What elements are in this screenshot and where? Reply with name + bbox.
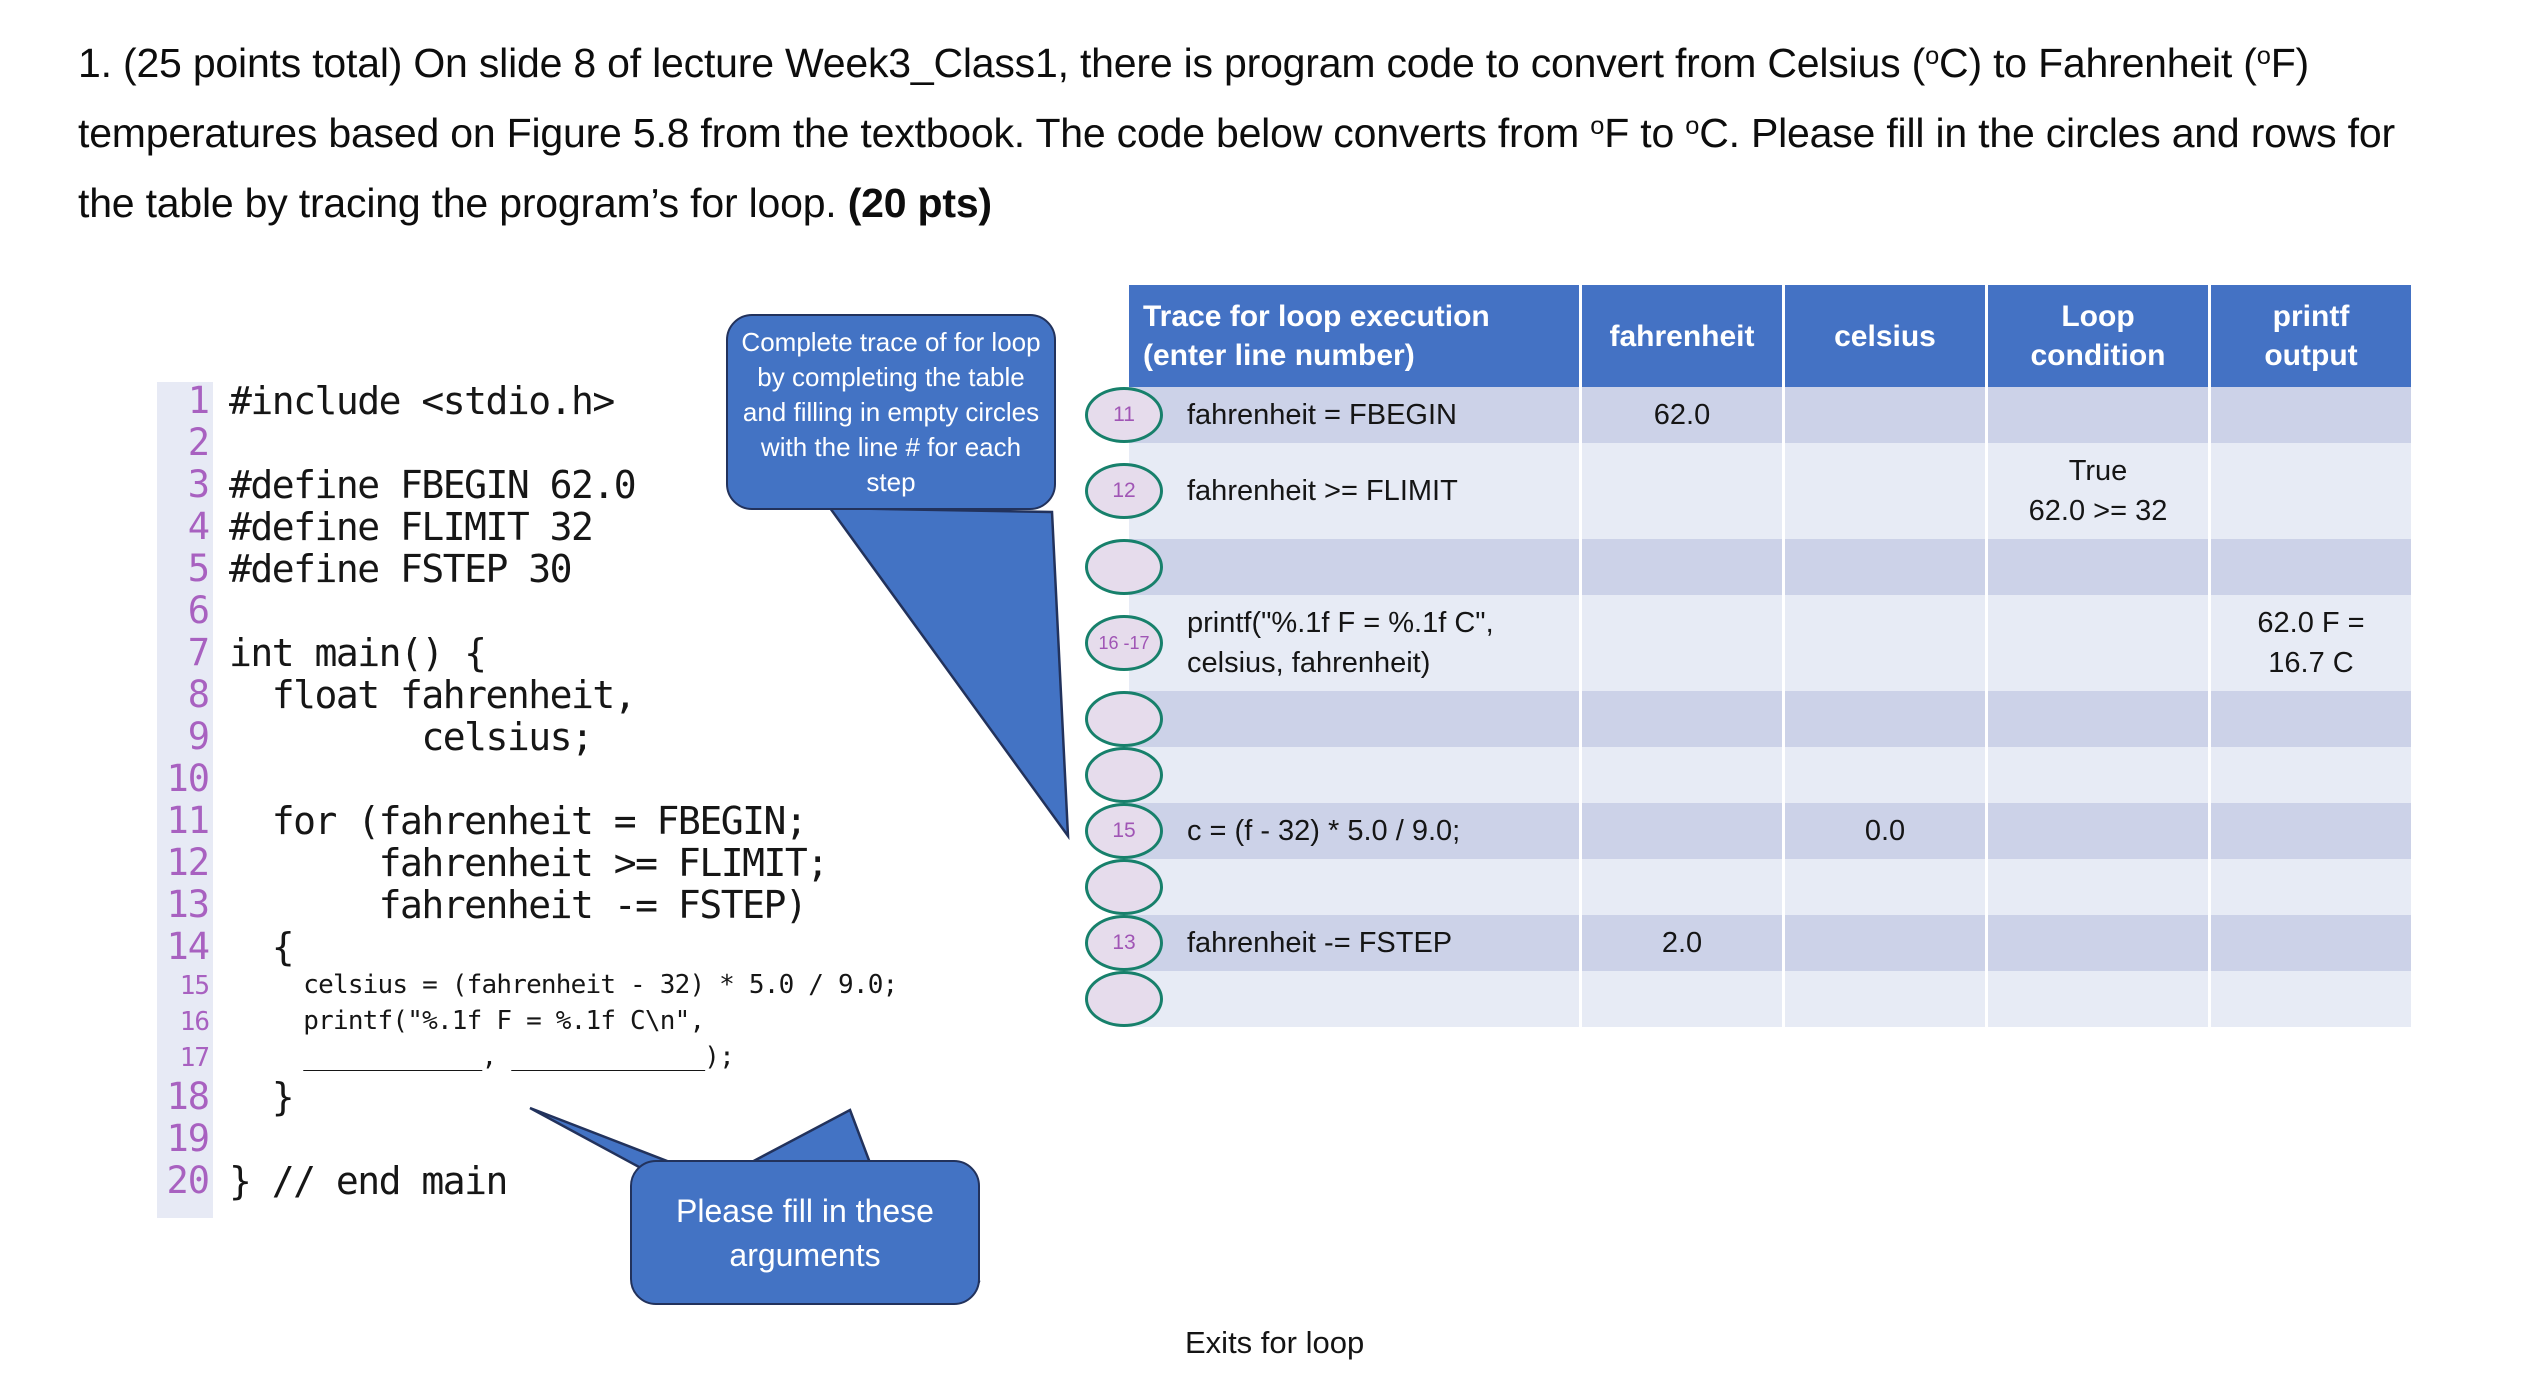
callout-arguments-text: Please fill in these arguments (646, 1189, 964, 1277)
callout-fill-arguments: Please fill in these arguments (630, 1160, 980, 1305)
callout-trace-instructions: Complete trace of for loop by completing… (726, 314, 1056, 510)
callout-trace-text: Complete trace of for loop by completing… (740, 325, 1042, 500)
arguments-callout-tail (0, 0, 2530, 1381)
slide-root: 1. (25 points total) On slide 8 of lectu… (0, 0, 2530, 1381)
